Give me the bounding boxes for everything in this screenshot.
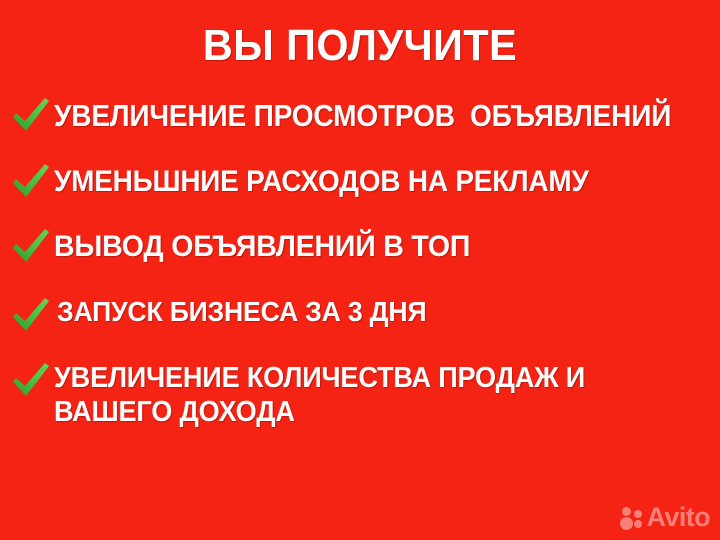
avito-watermark: Avito xyxy=(620,504,711,531)
list-item: ВЫВОД ОБЪЯВЛЕНИЙ В ТОП xyxy=(0,229,720,273)
avito-wordmark: Avito xyxy=(647,504,711,531)
check-icon xyxy=(10,227,52,267)
list-item-label-line2: ВАШЕГО ДОХОДА xyxy=(54,395,585,429)
check-icon xyxy=(10,96,52,136)
logo-dot-small-top xyxy=(634,510,642,518)
benefits-list: УВЕЛИЧЕНИЕ ПРОСМОТРОВ ОБЪЯВЛЕНИЙ УМЕНЬШН… xyxy=(0,98,720,429)
list-item: УВЕЛИЧЕНИЕ ПРОСМОТРОВ ОБЪЯВЛЕНИЙ xyxy=(0,98,720,142)
check-icon xyxy=(10,162,52,202)
logo-dot-large xyxy=(620,517,633,530)
page-title: ВЫ ПОЛУЧИТЕ xyxy=(22,22,699,70)
list-item-label-line1: УВЕЛИЧЕНИЕ КОЛИЧЕСТВА ПРОДАЖ И xyxy=(54,362,585,394)
list-item-label: ЗАПУСК БИЗНЕСА ЗА 3 ДНЯ xyxy=(57,295,426,329)
list-item-label: ВЫВОД ОБЪЯВЛЕНИЙ В ТОП xyxy=(54,229,470,265)
check-icon xyxy=(10,296,52,336)
list-item-label: УВЕЛИЧЕНИЕ КОЛИЧЕСТВА ПРОДАЖ ИВАШЕГО ДОХ… xyxy=(54,361,585,429)
list-item-label: УМЕНЬШНИЕ РАСХОДОВ НА РЕКЛАМУ xyxy=(54,164,589,200)
list-item-label: УВЕЛИЧЕНИЕ ПРОСМОТРОВ ОБЪЯВЛЕНИЙ xyxy=(54,98,671,134)
promo-poster: ВЫ ПОЛУЧИТЕ УВЕЛИЧЕНИЕ ПРОСМОТРОВ ОБЪЯВЛ… xyxy=(0,0,720,540)
logo-dot-medium xyxy=(622,507,631,516)
list-item: УМЕНЬШНИЕ РАСХОДОВ НА РЕКЛАМУ xyxy=(0,164,720,208)
avito-dots-logo-icon xyxy=(620,505,646,531)
list-item: УВЕЛИЧЕНИЕ КОЛИЧЕСТВА ПРОДАЖ ИВАШЕГО ДОХ… xyxy=(0,361,720,429)
list-item: ЗАПУСК БИЗНЕСА ЗА 3 ДНЯ xyxy=(0,295,720,339)
logo-dot-small-bottom xyxy=(634,520,642,528)
check-icon xyxy=(10,361,52,401)
